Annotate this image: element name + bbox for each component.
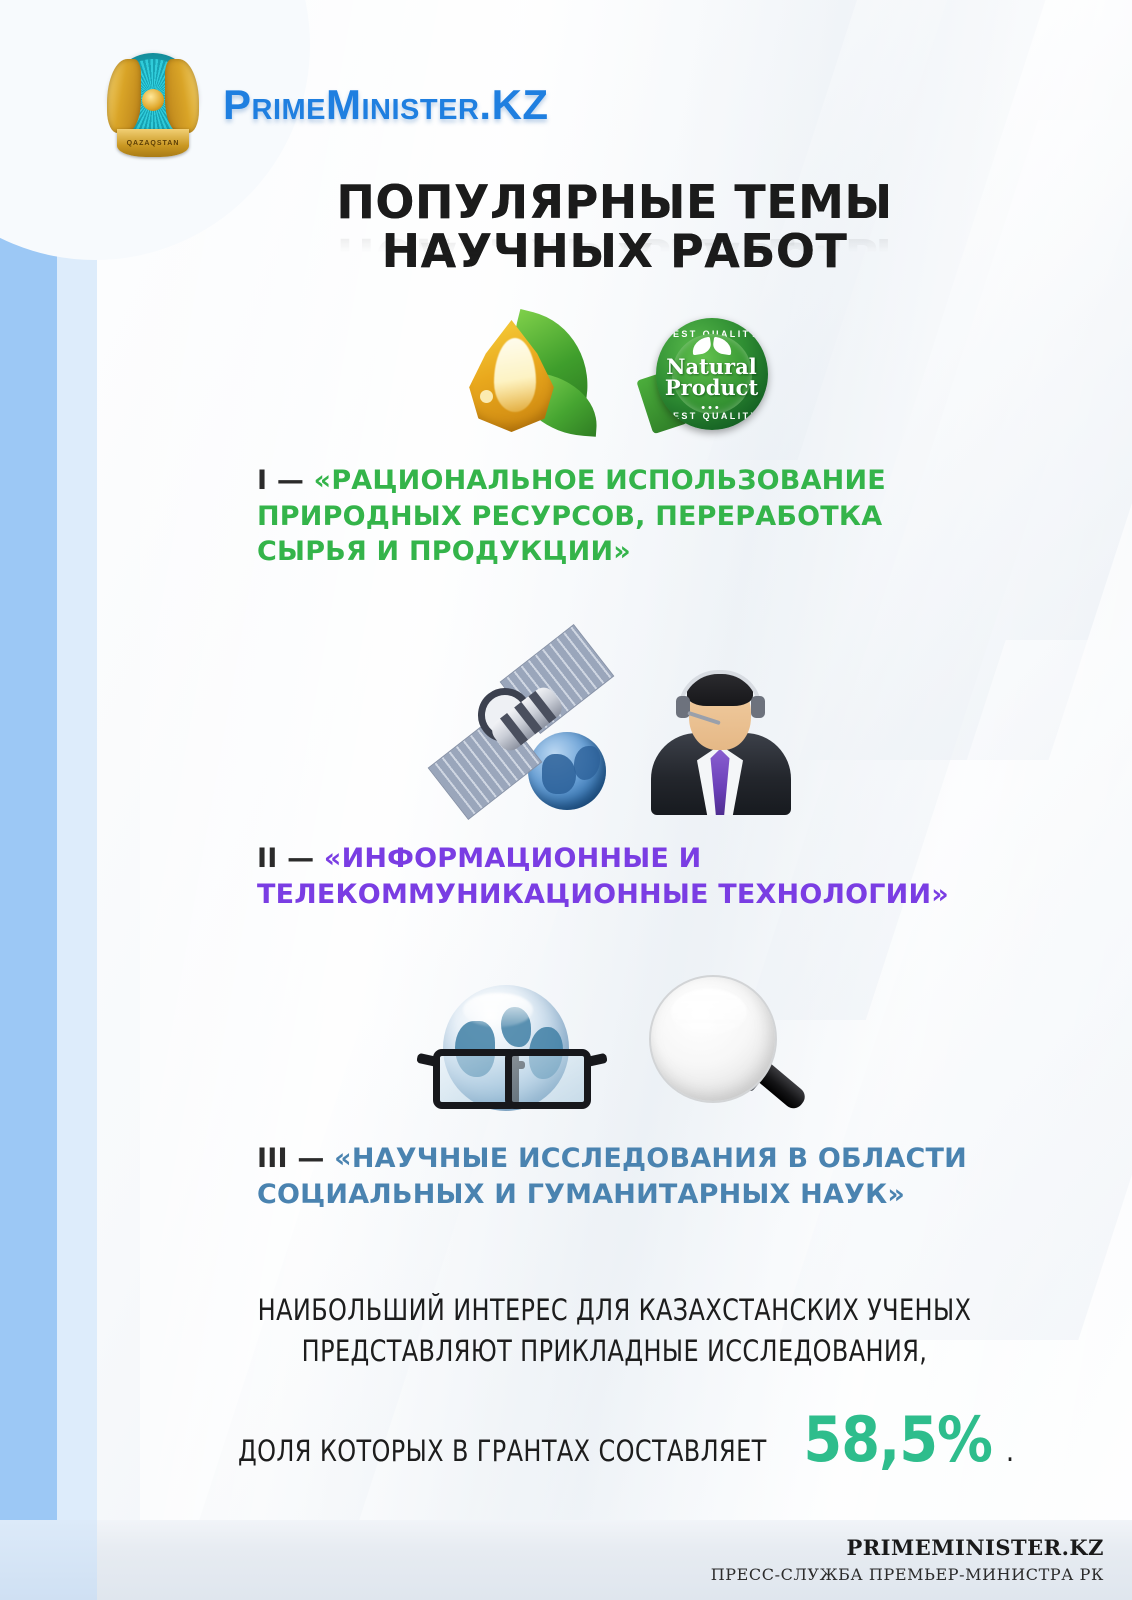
topic-3-icons bbox=[97, 975, 1132, 1115]
emblem-gold-left bbox=[107, 59, 141, 133]
stat-line-1: НАИБОЛЬШИЙ ИНТЕРЕС ДЛЯ КАЗАХСТАНСКИХ УЧЕ… bbox=[138, 1290, 1090, 1331]
footer-press-service: ПРЕСС-СЛУЖБА ПРЕМЬЕР-МИНИСТРА РК bbox=[711, 1565, 1104, 1584]
topic-2-label: «ИНФОРМАЦИОННЫЕ И ТЕЛЕКОММУНИКАЦИОННЫЕ Т… bbox=[257, 843, 949, 910]
topic-3-dash: — bbox=[297, 1143, 324, 1174]
footer-site: PRIMEMINISTER.KZ bbox=[711, 1535, 1104, 1560]
page-header: QAZAQSTAN PrimeMinister.KZ bbox=[97, 40, 1132, 170]
emblem-center bbox=[142, 89, 164, 111]
stat-line-3-prefix: ДОЛЯ КОТОРЫХ В ГРАНТАХ СОСТАВЛЯЕТ bbox=[238, 1431, 767, 1472]
badge-word-2: Product bbox=[656, 375, 768, 400]
kazakhstan-coat-of-arms-icon: QAZAQSTAN bbox=[105, 45, 201, 165]
topic-3-text: III — «НАУЧНЫЕ ИССЛЕДОВАНИЯ В ОБЛАСТИ СО… bbox=[97, 1141, 1132, 1212]
topic-block-1: BEST QUALITY Natural Product ••• BEST QU… bbox=[97, 312, 1132, 570]
oil-drop-leaf-icon bbox=[456, 312, 606, 437]
topic-block-3: III — «НАУЧНЫЕ ИССЛЕДОВАНИЯ В ОБЛАСТИ СО… bbox=[97, 975, 1132, 1212]
statistic-block: НАИБОЛЬШИЙ ИНТЕРЕС ДЛЯ КАЗАХСТАНСКИХ УЧЕ… bbox=[97, 1290, 1132, 1473]
call-center-operator-icon bbox=[643, 660, 798, 815]
emblem-ribbon: QAZAQSTAN bbox=[117, 129, 189, 157]
topic-2-text: II — «ИНФОРМАЦИОННЫЕ И ТЕЛЕКОММУНИКАЦИОН… bbox=[97, 841, 1132, 912]
glasses-lens bbox=[505, 1049, 591, 1109]
title-reflection-2: НАУЧНЫХ РАБОТ bbox=[97, 234, 1132, 283]
page-title: ПОПУЛЯРНЫЕ ТЕМЫ НАУЧНЫХ РАБОТ ПОПУЛЯРНЫЕ… bbox=[97, 178, 1132, 283]
emblem-ribbon-label: QAZAQSTAN bbox=[117, 140, 189, 147]
globe-glasses-icon bbox=[417, 985, 607, 1115]
topic-1-icons: BEST QUALITY Natural Product ••• BEST QU… bbox=[97, 312, 1132, 437]
topic-1-label: «РАЦИОНАЛЬНОЕ ИСПОЛЬЗОВАНИЕ ПРИРОДНЫХ РЕ… bbox=[257, 465, 886, 567]
stat-period: . bbox=[1006, 1434, 1014, 1468]
satellite-globe-icon bbox=[432, 640, 607, 815]
badge-leaves-icon bbox=[692, 338, 732, 355]
infographic-poster: QAZAQSTAN PrimeMinister.KZ ПОПУЛЯРНЫЕ ТЕ… bbox=[0, 0, 1132, 1600]
globe-highlight bbox=[463, 993, 533, 1027]
emblem-gold-right bbox=[165, 59, 199, 133]
footer-stripe bbox=[0, 1520, 97, 1600]
topic-3-label: «НАУЧНЫЕ ИССЛЕДОВАНИЯ В ОБЛАСТИ СОЦИАЛЬН… bbox=[257, 1143, 967, 1210]
eyeglasses-shape bbox=[417, 1047, 607, 1101]
topic-2-dash: — bbox=[287, 843, 314, 874]
topic-3-numeral: III bbox=[257, 1143, 288, 1174]
stat-line-2: ПРЕДСТАВЛЯЮТ ПРИКЛАДНЫЕ ИССЛЕДОВАНИЯ, bbox=[138, 1331, 1090, 1372]
stat-line-3: ДОЛЯ КОТОРЫХ В ГРАНТАХ СОСТАВЛЯЕТ 58,5% … bbox=[97, 1412, 1132, 1472]
footer-text: PRIMEMINISTER.KZ ПРЕСС-СЛУЖБА ПРЕМЬЕР-МИ… bbox=[711, 1535, 1104, 1584]
topic-1-text: I — «РАЦИОНАЛЬНОЕ ИСПОЛЬЗОВАНИЕ ПРИРОДНЫ… bbox=[97, 463, 1132, 570]
title-line-1: ПОПУЛЯРНЫЕ ТЕМЫ bbox=[97, 178, 1132, 227]
globe-shape bbox=[528, 732, 606, 810]
badge-circle: BEST QUALITY Natural Product ••• BEST QU… bbox=[656, 318, 768, 430]
topic-2-numeral: II bbox=[257, 843, 278, 874]
topic-1-numeral: I bbox=[257, 465, 267, 496]
drop-bubble bbox=[480, 390, 493, 403]
badge-bottom-text: BEST QUALITY bbox=[656, 411, 768, 421]
topic-2-icons bbox=[97, 640, 1132, 815]
headset-band bbox=[678, 670, 762, 710]
topic-1-dash: — bbox=[277, 465, 304, 496]
natural-product-badge-icon: BEST QUALITY Natural Product ••• BEST QU… bbox=[642, 312, 774, 437]
topic-block-2: II — «ИНФОРМАЦИОННЫЕ И ТЕЛЕКОММУНИКАЦИОН… bbox=[97, 640, 1132, 912]
magnifying-glass-icon bbox=[643, 975, 813, 1115]
brand-title: PrimeMinister.KZ bbox=[223, 81, 549, 129]
drop-highlight bbox=[494, 338, 536, 412]
stat-value: 58,5% bbox=[803, 1412, 992, 1468]
magnifier-highlight bbox=[671, 989, 747, 1035]
headset-earpiece bbox=[751, 696, 765, 718]
